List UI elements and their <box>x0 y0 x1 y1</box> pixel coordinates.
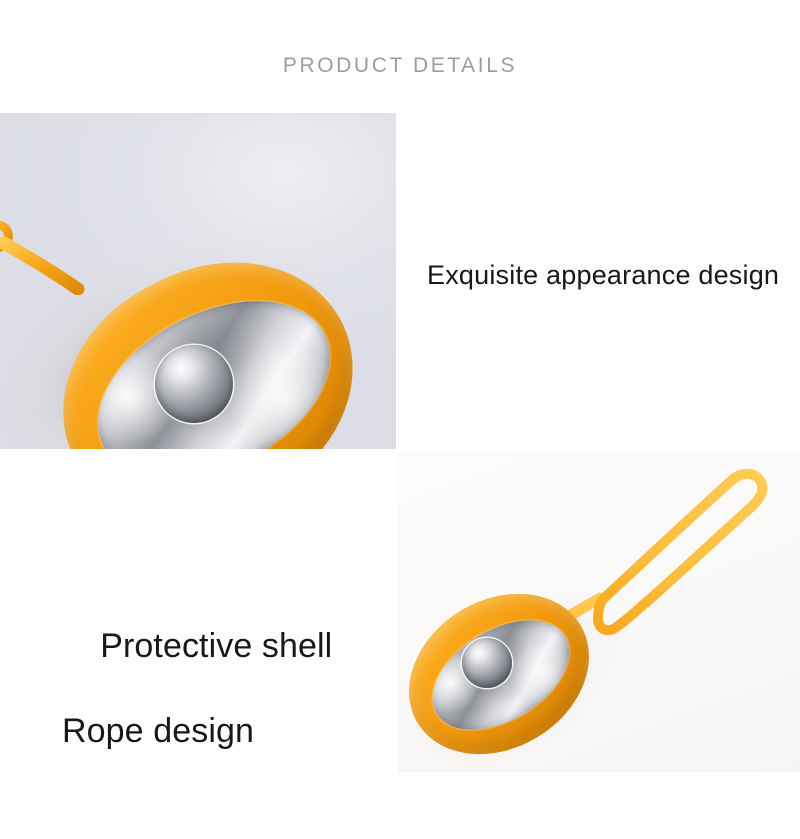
page-title: PRODUCT DETAILS <box>283 54 517 78</box>
caption-line-1: Protective shell <box>100 627 332 665</box>
product-photo-closeup <box>0 113 396 449</box>
dome-button <box>462 638 512 688</box>
caption-line-2: Rope design <box>62 710 332 753</box>
page-header: PRODUCT DETAILS <box>0 54 800 78</box>
product-device <box>58 271 358 449</box>
product-photo-with-lanyard <box>398 452 800 772</box>
product-device <box>404 600 594 748</box>
caption-protective-shell: Protective shell Rope design <box>62 582 332 839</box>
dome-button <box>155 345 233 423</box>
caption-appearance: Exquisite appearance design <box>427 258 779 292</box>
product-details-page: PRODUCT DETAILS <box>0 0 800 800</box>
